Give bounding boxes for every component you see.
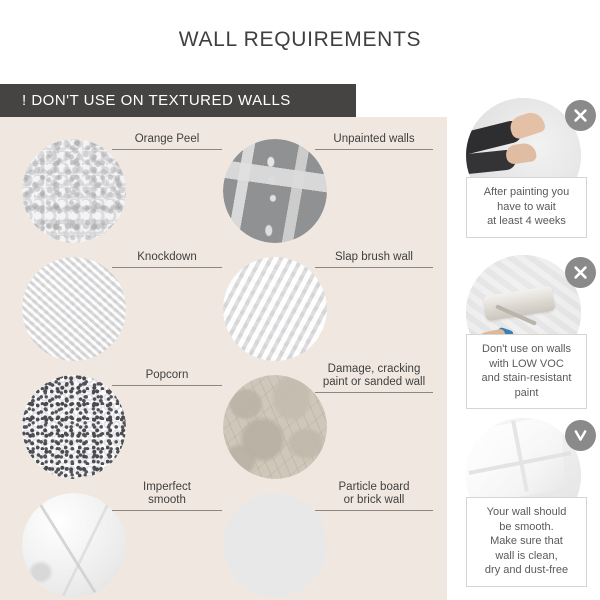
texture-label-wrap: Imperfect smooth [112,481,222,511]
hand-shape-2 [505,142,537,165]
orange-peel-swatch [22,139,126,243]
particle-brick-swatch [223,493,327,597]
cross-icon [565,100,596,131]
texture-label-wrap: Popcorn [112,369,222,386]
texture-label-wrap: Unpainted walls [315,133,433,150]
tip-caption: Don't use on walls with LOW VOC and stai… [466,334,587,409]
warning-banner-text: ! DON'T USE ON TEXTURED WALLS [0,92,291,109]
texture-label-rule [112,385,222,386]
tip-caption: Your wall should be smooth. Make sure th… [466,497,587,587]
texture-label-wrap: Particle board or brick wall [315,481,433,511]
unpainted-walls-swatch [223,139,327,243]
tips-sidebar: After painting you have to wait at least… [447,0,600,600]
texture-item-imperfect-smooth: Imperfect smooth [0,471,223,589]
damaged-wall-swatch [223,375,327,479]
texture-label-rule [315,149,433,150]
texture-label-rule [315,510,433,511]
texture-label: Unpainted walls [315,133,433,149]
imperfect-smooth-texture-icon [22,493,126,597]
texture-item-popcorn: Popcorn [0,353,223,471]
knockdown-swatch [22,257,126,361]
texture-label: Slap brush wall [315,251,433,267]
slap-brush-swatch [223,257,327,361]
texture-label: Particle board or brick wall [315,481,433,510]
texture-label-wrap: Orange Peel [112,133,222,150]
texture-label: Knockdown [112,251,222,267]
hand-shape [507,109,546,140]
texture-item-unpainted-walls: Unpainted walls [210,117,433,235]
cross-icon [565,257,596,288]
knockdown-texture-icon [22,257,126,361]
texture-item-slap-brush-wall: Slap brush wall [210,235,433,353]
texture-label-wrap: Knockdown [112,251,222,268]
texture-item-damaged-wall: Damage, cracking paint or sanded wall [210,353,433,471]
imperfect-smooth-swatch [22,493,126,597]
texture-item-orange-peel: Orange Peel [0,117,223,235]
texture-label: Imperfect smooth [112,481,222,510]
warning-banner: ! DON'T USE ON TEXTURED WALLS [0,84,356,117]
texture-label-rule [112,149,222,150]
orange-peel-texture-icon [22,139,126,243]
unpainted-wall-photo-icon [223,139,327,243]
popcorn-swatch [22,375,126,479]
texture-label: Popcorn [112,369,222,385]
damaged-wall-photo-icon [223,375,327,479]
texture-label-rule [112,510,222,511]
texture-label-wrap: Slap brush wall [315,251,433,268]
texture-label: Damage, cracking paint or sanded wall [315,363,433,392]
slap-brush-texture-icon [223,257,327,361]
infographic-page: WALL REQUIREMENTS ! DON'T USE ON TEXTURE… [0,0,600,600]
texture-label-rule [315,267,433,268]
texture-label-rule [112,267,222,268]
texture-grid: Orange Peel Unpainted walls Knockdown [0,117,447,600]
texture-item-knockdown: Knockdown [0,235,223,353]
texture-item-particle-brick-wall: Particle board or brick wall [210,471,433,589]
texture-label-rule [315,392,433,393]
texture-label: Orange Peel [112,133,222,149]
check-icon [565,420,596,451]
popcorn-texture-icon [22,375,126,479]
texture-label-wrap: Damage, cracking paint or sanded wall [315,363,433,393]
tip-caption: After painting you have to wait at least… [466,177,587,238]
